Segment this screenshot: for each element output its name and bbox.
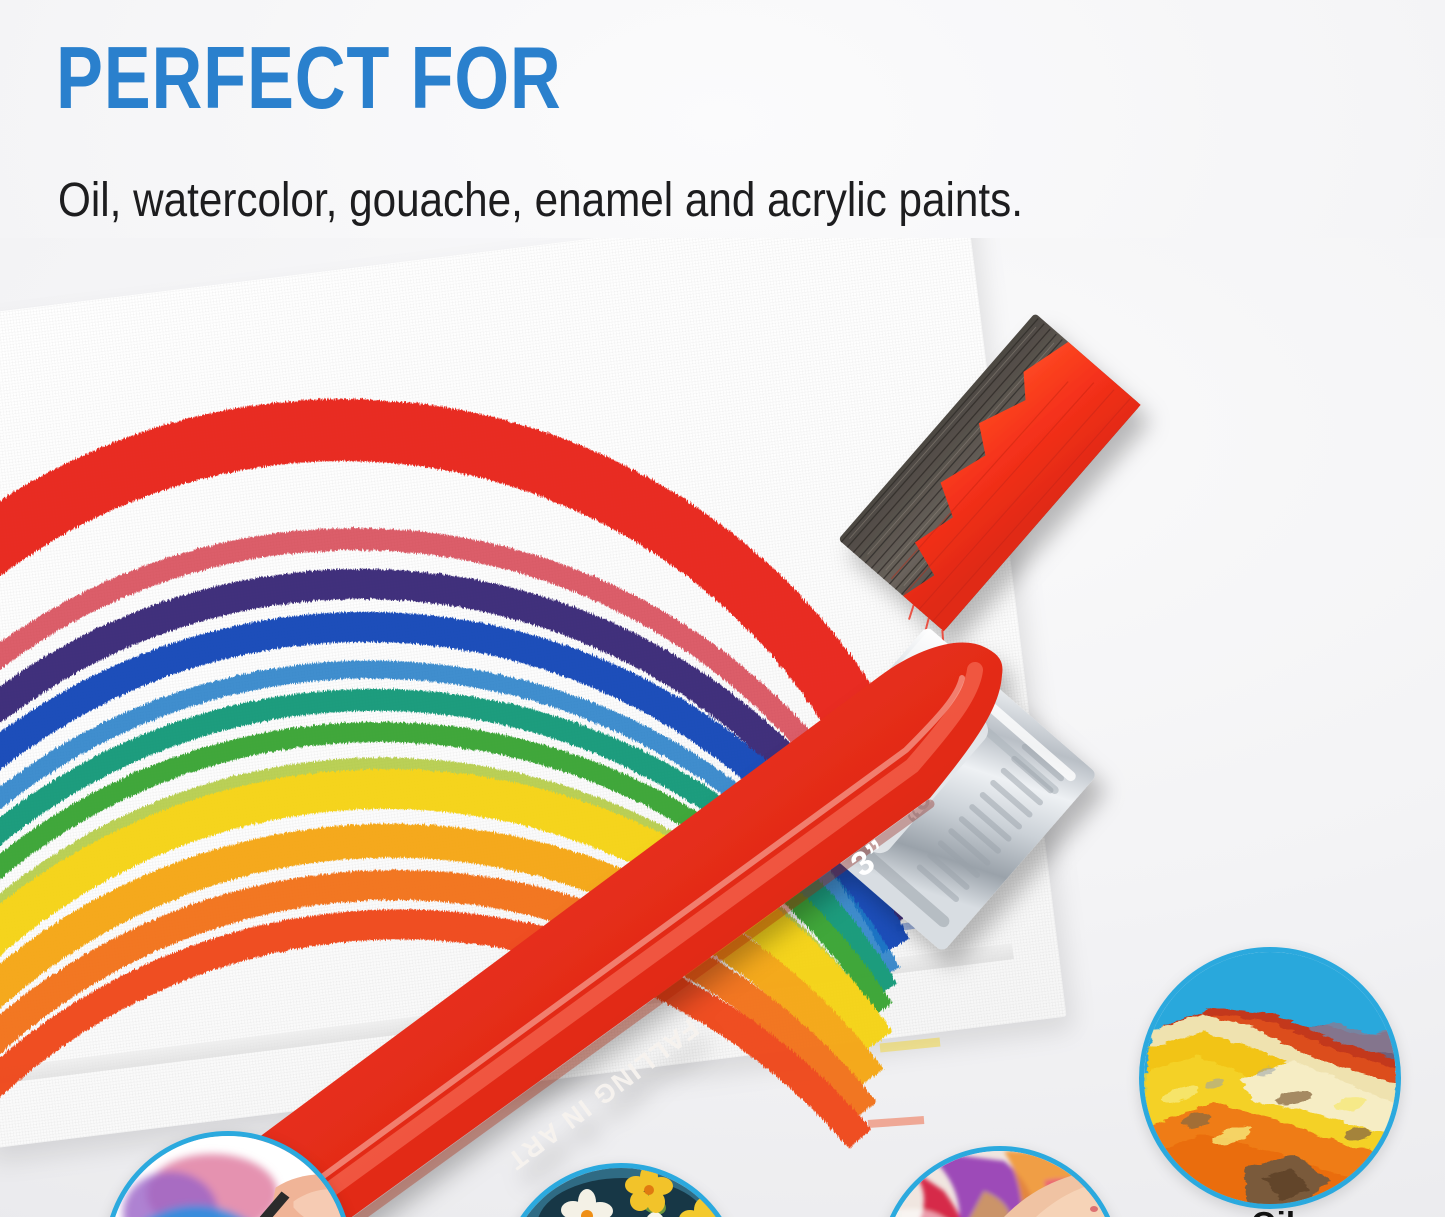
- product-photo: 3” 3” FALLING IN: [0, 238, 1445, 1217]
- callout-acrylic[interactable]: [879, 1146, 1121, 1217]
- page-headline: PERFECT FOR: [56, 34, 562, 122]
- watercolor-artwork: [109, 1136, 347, 1217]
- product-marketing-image: PERFECT FOR Oil, watercolor, gouache, en…: [0, 0, 1445, 1217]
- acrylic-artwork: [884, 1151, 1116, 1217]
- oil-artwork: [1144, 952, 1396, 1204]
- callout-watercolor[interactable]: [104, 1131, 352, 1217]
- gouache-artwork: [505, 1168, 737, 1217]
- callout-gouache[interactable]: [500, 1163, 742, 1217]
- callout-label-oil: Oil: [1251, 1205, 1295, 1217]
- callout-oil[interactable]: [1139, 947, 1401, 1209]
- page-subhead: Oil, watercolor, gouache, enamel and acr…: [58, 176, 1023, 226]
